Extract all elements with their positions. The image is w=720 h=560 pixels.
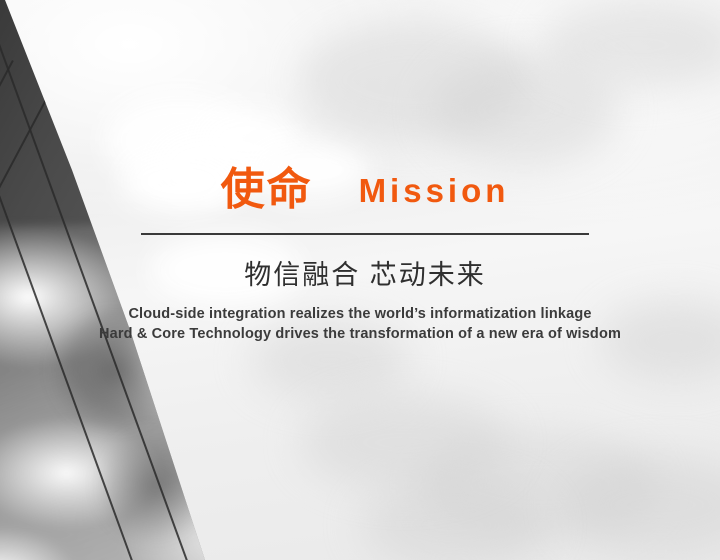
mission-statement-line: Hard & Core Technology drives the transf… <box>60 324 660 344</box>
page-title: 使命 Mission <box>141 168 589 212</box>
subtitle: 物信融合 芯动未来 <box>141 258 589 293</box>
page-title-english: Mission <box>359 174 510 207</box>
title-divider <box>141 233 589 235</box>
mission-statement-line: Cloud-side integration realizes the worl… <box>60 304 660 324</box>
mission-statement: Cloud-side integration realizes the worl… <box>60 304 660 344</box>
page-title-chinese: 使命 <box>221 168 313 212</box>
banner-content: 使命 Mission 物信融合 芯动未来 Cloud-side integrat… <box>0 0 720 560</box>
mission-banner: 使命 Mission 物信融合 芯动未来 Cloud-side integrat… <box>0 0 720 560</box>
